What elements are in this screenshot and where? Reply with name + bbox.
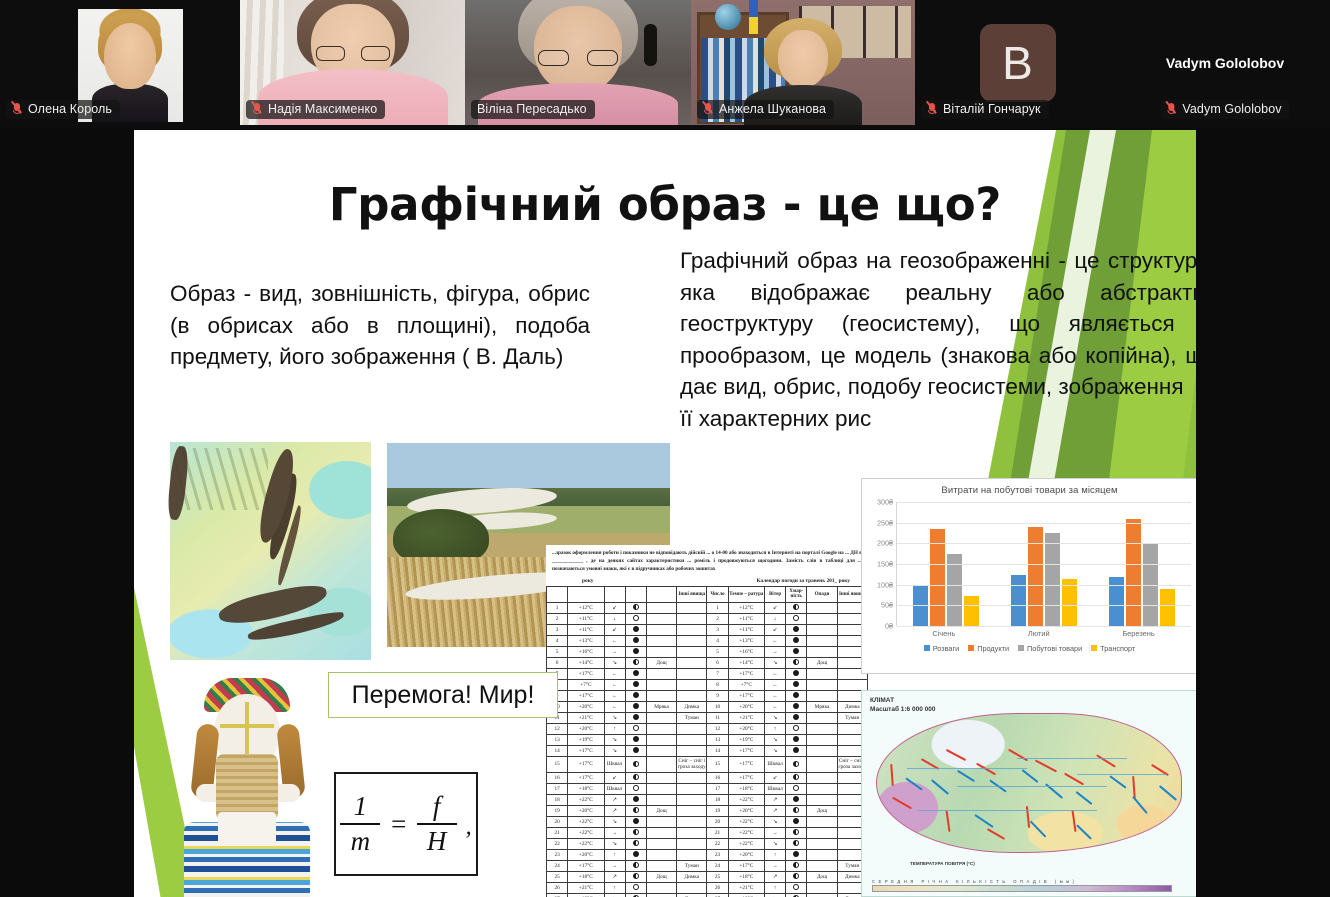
chart-gridline	[897, 502, 1191, 503]
weather-table: Інші явища Число Темпе – ратура Вітер Хм…	[546, 586, 868, 897]
map-wind-arrow	[945, 810, 950, 832]
weather-cell-wind: ↗	[604, 794, 625, 805]
chart-y-tick: 100₴	[877, 580, 893, 589]
cloud-symbol	[633, 626, 639, 632]
weather-cell-wind: ↑	[604, 723, 625, 734]
weather-cell-wind: ←	[764, 701, 785, 712]
chart-legend-label: Транспорт	[1100, 644, 1135, 653]
weather-cell-num: 14	[707, 745, 728, 756]
participant-tile-anzhela[interactable]: Анжела Шуканова	[691, 0, 915, 125]
weather-cell-cloud	[786, 860, 807, 871]
chart-bar	[1028, 527, 1043, 626]
weather-doc-table-title: Календар погоди за травень 201_ року	[757, 578, 850, 584]
col-left-temp	[568, 587, 604, 603]
cloud-symbol	[793, 703, 799, 709]
cloud-symbol	[793, 692, 799, 698]
chart-bar	[1045, 533, 1060, 626]
weather-cell-precip	[646, 734, 676, 745]
weather-cell-wind: ↑	[604, 882, 625, 893]
weather-cell-temp: +11°C	[568, 613, 604, 624]
weather-table-row: 9+17°C←9+17°C←	[547, 690, 868, 701]
weather-cell-temp: +17°C	[568, 745, 604, 756]
cloud-symbol	[793, 670, 799, 676]
weather-cell-wind: Шквал	[764, 783, 785, 794]
zoom-meeting-window: Олена Король Надія Максименко Віліна Пер…	[0, 0, 1330, 897]
mic-off-icon	[12, 103, 23, 116]
weather-cell-temp: +13°C	[568, 635, 604, 646]
victory-callout-box: Перемога! Мир!	[328, 672, 558, 718]
weather-cell-other	[677, 635, 707, 646]
weather-doc-subtitle-row: року Календар погоди за травень 201_ рок…	[546, 575, 868, 586]
weather-cell-num: 26	[547, 882, 568, 893]
participant-tile-nadia[interactable]: Надія Максименко	[240, 0, 465, 125]
weather-cell-cloud	[625, 723, 646, 734]
chart-gridline	[897, 605, 1191, 606]
ukraine-climate-map: КЛІМАТ Масштаб 1:6 000 000 ТЕМПЕРАТУРА П…	[861, 690, 1196, 897]
participant-name: Надія Максименко	[268, 102, 377, 116]
weather-cell-cloud	[786, 871, 807, 882]
chart-x-axis-labels: СіченьЛютийБерезень	[896, 629, 1191, 638]
weather-cell-precip: Дощ	[807, 871, 837, 882]
weather-cell-precip	[807, 794, 837, 805]
cloud-symbol	[793, 884, 799, 890]
chart-x-tick: Січень	[932, 629, 955, 638]
weather-cell-precip	[807, 668, 837, 679]
weather-cell-num: 27	[707, 893, 728, 897]
cloud-symbol	[793, 714, 799, 720]
weather-cell-num: 21	[707, 827, 728, 838]
weather-cell-cloud	[625, 893, 646, 897]
weather-cell-num: 12	[707, 723, 728, 734]
weather-cell-num: 18	[707, 794, 728, 805]
weather-cell-temp: +17°C	[568, 668, 604, 679]
weather-cell-precip	[807, 712, 837, 723]
avatar: В	[980, 24, 1056, 102]
weather-cell-temp: +17°C	[568, 860, 604, 871]
weather-table-row: 11+21°C↘Туман11+21°C↘Туман	[547, 712, 868, 723]
weather-cell-wind: ↙	[604, 602, 625, 613]
weather-cell-precip	[646, 756, 676, 772]
map-wind-arrow	[1159, 785, 1177, 801]
weather-cell-wind: ↑	[764, 723, 785, 734]
weather-cell-cloud	[786, 635, 807, 646]
weather-cell-temp: +16°C	[728, 646, 764, 657]
weather-cell-precip	[646, 893, 676, 897]
fraction-right: f H	[417, 793, 457, 855]
weather-cell-cloud	[786, 690, 807, 701]
weather-cell-other	[837, 679, 867, 690]
chart-bar	[1160, 589, 1175, 626]
chart-legend-item: Транспорт	[1091, 644, 1135, 653]
weather-cell-num: 19	[707, 805, 728, 816]
weather-cell-cloud	[786, 679, 807, 690]
weather-cell-precip	[646, 882, 676, 893]
weather-cell-num: 11	[707, 712, 728, 723]
weather-cell-wind: ↘	[604, 734, 625, 745]
weather-cell-cloud	[786, 772, 807, 783]
weather-cell-cloud	[625, 624, 646, 635]
weather-cell-cloud	[625, 668, 646, 679]
weather-cell-wind: →	[604, 646, 625, 657]
weather-cell-temp: +17°C	[728, 860, 764, 871]
map-wind-arrow	[974, 814, 993, 828]
weather-cell-cloud	[625, 679, 646, 690]
map-wind-arrow	[1109, 775, 1126, 788]
chart-plot-area: 0₴50₴100₴150₴200₴250₴300₴	[896, 502, 1191, 626]
weather-cell-cloud	[625, 657, 646, 668]
map-wind-arrow	[976, 763, 996, 776]
weather-cell-other: Туман	[677, 860, 707, 871]
expenses-bar-chart: Витрати на побутові товари за місяцем 0₴…	[861, 478, 1196, 674]
weather-cell-precip: Дощ	[646, 805, 676, 816]
shared-screen-slide[interactable]: Графічний образ - це що? Образ - вид, зо…	[134, 130, 1196, 897]
cloud-symbol	[793, 796, 799, 802]
weather-cell-num: 20	[707, 816, 728, 827]
weather-cell-precip	[807, 723, 837, 734]
weather-cell-cloud	[786, 734, 807, 745]
mic-off-icon	[1166, 103, 1177, 116]
slide-left-paragraph: Образ - вид, зовнішність, фігура, обрис …	[170, 278, 590, 373]
weather-cell-cloud	[625, 613, 646, 624]
weather-cell-temp: +16°C	[568, 646, 604, 657]
col-temp: Темпе – ратура	[728, 587, 764, 603]
weather-table-row: 26+21°C↑26+21°C↑	[547, 882, 868, 893]
cloud-symbol	[633, 637, 639, 643]
decor-white-wedge	[134, 587, 164, 897]
weather-cell-cloud	[625, 734, 646, 745]
cloud-symbol	[793, 747, 799, 753]
weather-cell-num: 24	[547, 860, 568, 871]
weather-cell-precip	[807, 882, 837, 893]
weather-cell-precip	[646, 794, 676, 805]
weather-cell-precip	[807, 624, 837, 635]
weather-cell-cloud	[625, 805, 646, 816]
col-left-cloud	[625, 587, 646, 603]
weather-cell-cloud	[786, 624, 807, 635]
weather-cell-other	[677, 646, 707, 657]
weather-table-row: 27+19°C↘Димка27+19°C↘Димка	[547, 893, 868, 897]
numerator-right: f	[433, 793, 441, 823]
weather-cell-other	[677, 816, 707, 827]
chart-gridline	[897, 626, 1191, 627]
cloud-symbol	[633, 681, 639, 687]
weather-table-row: 2+11°C↓2+11°C↓	[547, 613, 868, 624]
weather-cell-other	[677, 690, 707, 701]
weather-cell-wind: ↙	[604, 624, 625, 635]
weather-cell-precip	[646, 712, 676, 723]
map-legend: ТЕМПЕРАТУРА ПОВІТРЯ (°С)	[910, 861, 975, 866]
weather-cell-precip	[646, 624, 676, 635]
weather-cell-other	[677, 849, 707, 860]
weather-doc-intro: ...зразок оформлення роботи і показники …	[546, 545, 868, 575]
weather-cell-precip	[807, 772, 837, 783]
weather-cell-num: 24	[707, 860, 728, 871]
weather-cell-wind: →	[764, 646, 785, 657]
weather-cell-temp: +17°C	[728, 756, 764, 772]
participant-tile-olena[interactable]: Олена Король	[0, 0, 240, 125]
cloud-symbol	[793, 761, 799, 767]
chart-y-tick: 50₴	[881, 601, 893, 610]
weather-cell-precip	[646, 646, 676, 657]
cloud-symbol	[633, 736, 639, 742]
chart-legend-label: Продукти	[977, 644, 1009, 653]
weather-cell-temp: +14°C	[728, 657, 764, 668]
weather-cell-wind: ↙	[764, 602, 785, 613]
weather-cell-other	[677, 613, 707, 624]
cloud-symbol	[633, 703, 639, 709]
chart-gridline	[897, 523, 1191, 524]
weather-cell-temp: +22°C	[568, 838, 604, 849]
weather-cell-wind: ↑	[764, 849, 785, 860]
cloud-symbol	[793, 659, 799, 665]
chart-legend-item: Розваги	[924, 644, 959, 653]
weather-cell-cloud	[786, 794, 807, 805]
weather-cell-temp: +7°C	[728, 679, 764, 690]
weather-cell-num: 21	[547, 827, 568, 838]
map-legend-title: ТЕМПЕРАТУРА ПОВІТРЯ (°С)	[910, 861, 975, 866]
name-chip-vitalii: Віталій Гончарук	[921, 100, 1049, 119]
weather-cell-temp: +21°C	[728, 882, 764, 893]
weather-cell-wind: →	[604, 827, 625, 838]
map-wind-arrow	[1035, 759, 1057, 772]
cloud-symbol	[633, 785, 639, 791]
weather-cell-cloud	[786, 893, 807, 897]
cloud-symbol	[633, 604, 639, 610]
col-num: Число	[707, 587, 728, 603]
chart-legend-item: Продукти	[968, 644, 1009, 653]
cloud-symbol	[633, 840, 639, 846]
chart-legend-swatch	[1018, 645, 1024, 651]
col-left-other: Інші явища	[677, 587, 707, 603]
weather-cell-num: 15	[547, 756, 568, 772]
chart-bar	[1062, 579, 1077, 626]
weather-cell-cloud	[786, 745, 807, 756]
scale-formula-box: 1 m = f H ,	[334, 772, 478, 876]
weather-cell-precip	[807, 838, 837, 849]
weather-cell-temp: +22°C	[568, 827, 604, 838]
cloud-symbol	[793, 851, 799, 857]
weather-cell-num: 7	[707, 668, 728, 679]
map-river	[1077, 774, 1167, 775]
weather-cell-precip	[807, 756, 837, 772]
cloud-symbol	[793, 829, 799, 835]
cloud-symbol	[793, 604, 799, 610]
weather-cell-num: 16	[547, 772, 568, 783]
weather-cell-other	[677, 679, 707, 690]
weather-cell-cloud	[625, 712, 646, 723]
weather-cell-temp: +20°C	[568, 723, 604, 734]
weather-cell-temp: +22°C	[728, 838, 764, 849]
weather-table-row: 5+16°C→5+16°C→	[547, 646, 868, 657]
weather-cell-wind: ↘	[604, 893, 625, 897]
weather-cell-temp: +21°C	[728, 712, 764, 723]
weather-cell-num: 15	[707, 756, 728, 772]
cloud-symbol	[793, 615, 799, 621]
name-chip-vadym: Vadym Gololobov	[1160, 100, 1289, 119]
weather-cell-precip	[807, 679, 837, 690]
cloud-symbol	[633, 829, 639, 835]
weather-cell-num: 23	[707, 849, 728, 860]
weather-cell-temp: +18°C	[568, 871, 604, 882]
participant-name: Олена Король	[28, 102, 112, 116]
cloud-symbol	[633, 714, 639, 720]
map-wind-arrow	[1076, 791, 1093, 805]
cloud-symbol	[793, 736, 799, 742]
weather-cell-wind: ←	[764, 679, 785, 690]
weather-cell-temp: +18°C	[568, 783, 604, 794]
col-cloud: Хмар- ність	[786, 587, 807, 603]
weather-cell-wind: ↓	[764, 613, 785, 624]
weather-cell-temp: +13°C	[728, 635, 764, 646]
weather-cell-wind: ↙	[764, 624, 785, 635]
map-wind-arrow	[987, 828, 1005, 840]
weather-cell-precip	[807, 602, 837, 613]
weather-cell-num: 19	[547, 805, 568, 816]
weather-cell-wind: ←	[604, 635, 625, 646]
motanka-doll-photo	[168, 672, 328, 897]
weather-cell-cloud	[625, 849, 646, 860]
weather-cell-num: 1	[707, 602, 728, 613]
weather-table-row: 14+17°C↘14+17°C↘	[547, 745, 868, 756]
weather-cell-cloud	[786, 816, 807, 827]
weather-cell-temp: +19°C	[568, 893, 604, 897]
weather-cell-num: 6	[707, 657, 728, 668]
weather-table-row: 4+13°C←4+13°C←	[547, 635, 868, 646]
weather-cell-wind: ←	[604, 668, 625, 679]
cloud-symbol	[793, 648, 799, 654]
weather-cell-cloud	[625, 882, 646, 893]
cloud-symbol	[633, 851, 639, 857]
weather-cell-wind: ↘	[604, 657, 625, 668]
denominator-right: H	[427, 825, 447, 855]
cloud-symbol	[793, 862, 799, 868]
weather-doc-left-marker: року	[582, 578, 593, 584]
weather-cell-cloud	[786, 646, 807, 657]
weather-table-row: 25+18°C↗ДощДимка25+18°C↗ДощДимка	[547, 871, 868, 882]
weather-cell-cloud	[786, 805, 807, 816]
weather-calendar-document: ...зразок оформлення роботи і показники …	[546, 545, 868, 897]
slide-title: Графічний образ - це що?	[134, 178, 1196, 231]
weather-cell-other	[677, 668, 707, 679]
weather-cell-precip	[807, 783, 837, 794]
weather-cell-cloud	[625, 783, 646, 794]
weather-cell-cloud	[786, 838, 807, 849]
map-title-block: КЛІМАТ Масштаб 1:6 000 000	[870, 697, 935, 715]
weather-cell-cloud	[625, 827, 646, 838]
weather-cell-precip	[646, 613, 676, 624]
participant-name: Віталій Гончарук	[943, 102, 1041, 116]
weather-cell-cloud	[625, 794, 646, 805]
weather-cell-temp: +17°C	[728, 772, 764, 783]
weather-cell-other	[677, 723, 707, 734]
chart-legend-swatch	[1091, 645, 1097, 651]
weather-cell-other: Сніг – сніг і гроза заходу	[677, 756, 707, 772]
weather-cell-wind: ↑	[604, 849, 625, 860]
col-wind: Вітер	[764, 587, 785, 603]
weather-cell-precip	[646, 668, 676, 679]
weather-cell-precip	[807, 827, 837, 838]
formula-trailing-comma: ,	[466, 814, 472, 841]
weather-cell-cloud	[786, 701, 807, 712]
weather-cell-wind: Шквал	[604, 756, 625, 772]
map-wind-arrow	[1096, 754, 1116, 767]
participant-tile-vilina[interactable]: Віліна Пересадько	[465, 0, 691, 125]
weather-cell-cloud	[625, 635, 646, 646]
mic-off-icon	[252, 103, 263, 116]
slide-right-text-last: її характерних рис	[680, 403, 1196, 435]
weather-cell-num: 10	[707, 701, 728, 712]
weather-cell-temp: +11°C	[728, 613, 764, 624]
weather-cell-wind: ←	[764, 690, 785, 701]
weather-table-row: 17+18°CШквал17+18°CШквал	[547, 783, 868, 794]
weather-cell-other	[677, 805, 707, 816]
map-wind-arrow	[931, 779, 949, 795]
cloud-symbol	[633, 884, 639, 890]
cloud-symbol	[633, 774, 639, 780]
chart-gridline	[897, 543, 1191, 544]
weather-cell-temp: +12°C	[568, 602, 604, 613]
weather-cell-precip	[807, 613, 837, 624]
cloud-symbol	[633, 761, 639, 767]
weather-cell-precip	[807, 745, 837, 756]
weather-cell-wind: ↗	[764, 871, 785, 882]
weather-cell-cloud	[625, 602, 646, 613]
chart-y-tick: 200₴	[877, 539, 893, 548]
cloud-symbol	[633, 615, 639, 621]
weather-cell-precip: Мряка	[646, 701, 676, 712]
weather-cell-wind: ↘	[764, 838, 785, 849]
weather-cell-precip	[646, 838, 676, 849]
weather-cell-cloud	[625, 745, 646, 756]
weather-table-row: 21+22°C→21+22°C→	[547, 827, 868, 838]
weather-cell-temp: +19°C	[728, 734, 764, 745]
cloud-symbol	[793, 626, 799, 632]
weather-cell-temp: +20°C	[568, 849, 604, 860]
weather-cell-precip	[646, 827, 676, 838]
chart-legend-label: Побутові товари	[1027, 644, 1082, 653]
weather-cell-temp: +22°C	[728, 794, 764, 805]
weather-cell-wind: ↗	[604, 871, 625, 882]
weather-cell-temp: +22°C	[568, 816, 604, 827]
weather-cell-wind: ↘	[764, 712, 785, 723]
chart-bar	[1126, 519, 1141, 626]
participant-name: Vadym Gololobov	[1182, 102, 1281, 116]
map-precip-colorbar	[872, 885, 1172, 892]
weather-cell-other	[677, 783, 707, 794]
weather-cell-other	[677, 745, 707, 756]
weather-cell-cloud	[625, 772, 646, 783]
cloud-symbol	[633, 659, 639, 665]
weather-cell-other	[677, 602, 707, 613]
weather-cell-cloud	[625, 646, 646, 657]
map-river	[1017, 758, 1127, 759]
participant-name: Анжела Шуканова	[719, 102, 826, 116]
cloud-symbol	[633, 648, 639, 654]
weather-cell-num: 22	[707, 838, 728, 849]
slide-right-text-main: Графічний образ на геозображенні - це ст…	[680, 248, 1196, 399]
cloud-symbol	[633, 670, 639, 676]
weather-cell-temp: +18°C	[728, 783, 764, 794]
name-chip-anzhela: Анжела Шуканова	[697, 100, 834, 119]
participant-tile-vitalii[interactable]: В Віталій Гончарук	[915, 0, 1120, 125]
weather-cell-precip	[807, 816, 837, 827]
weather-cell-temp: +20°C	[728, 701, 764, 712]
weather-cell-precip	[807, 893, 837, 897]
weather-cell-precip	[646, 635, 676, 646]
weather-cell-other	[677, 734, 707, 745]
weather-cell-num: 25	[707, 871, 728, 882]
participant-tile-vadym[interactable]: Vadym Gololobov Vadym Gololobov	[1120, 0, 1330, 125]
